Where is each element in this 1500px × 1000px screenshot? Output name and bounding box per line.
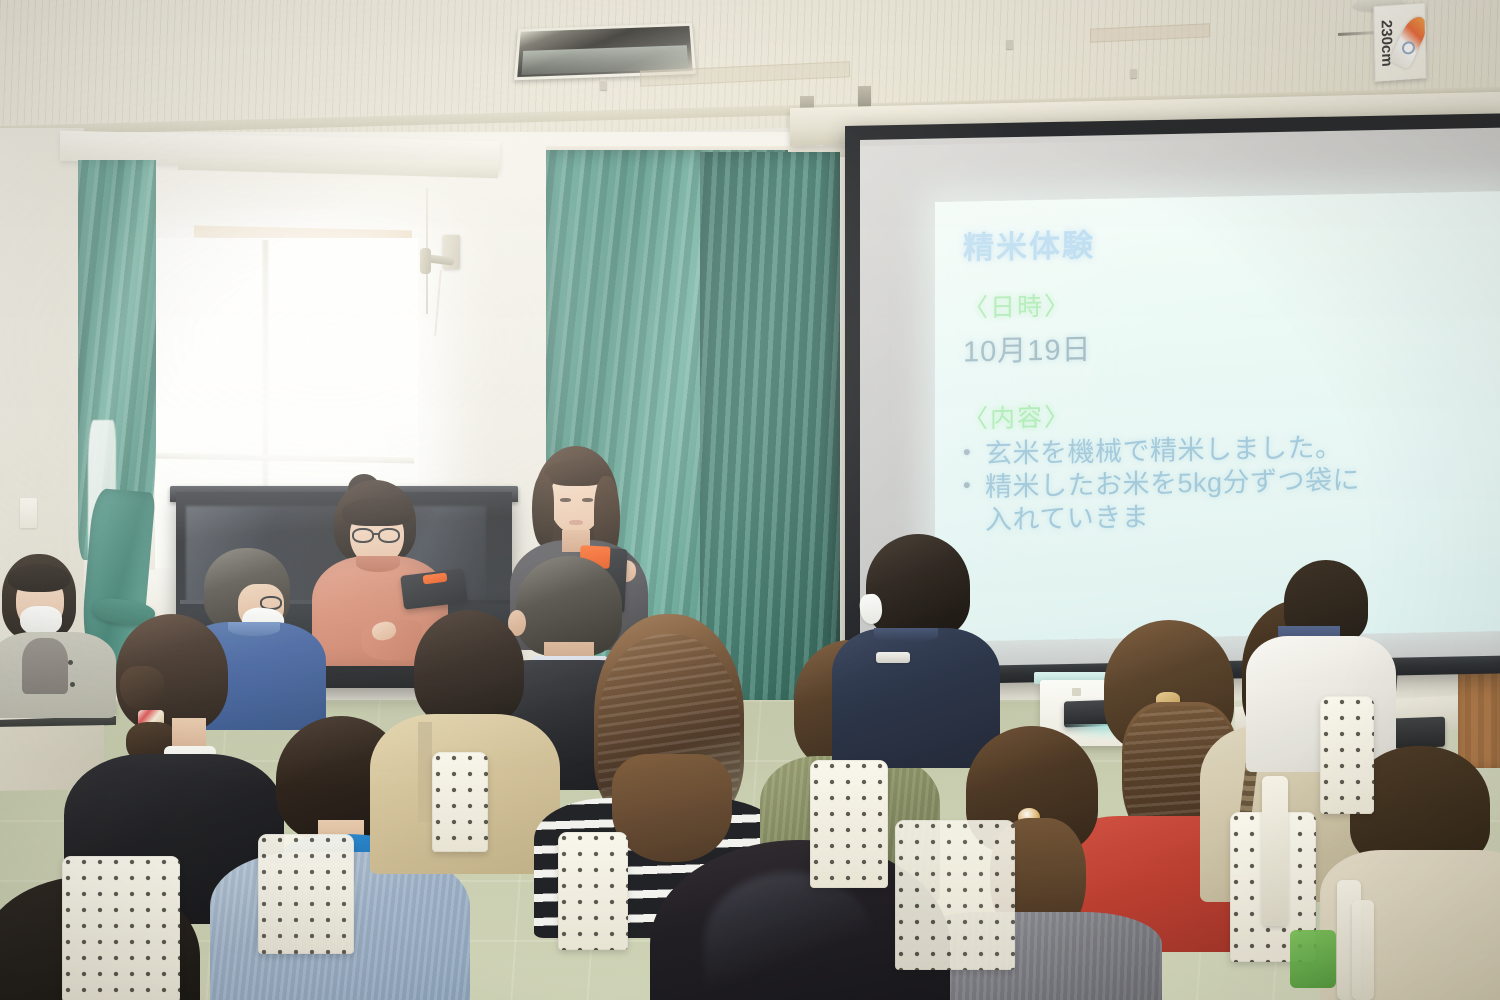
chair-armrest[interactable] <box>1262 776 1288 926</box>
chair[interactable] <box>558 832 628 950</box>
ceiling-fixture <box>600 81 607 90</box>
bullet-marker-icon: • <box>963 438 985 467</box>
chair[interactable] <box>62 856 180 1000</box>
a9-uniform-badge <box>876 652 910 663</box>
height-marker-sign: 230cm <box>1373 2 1426 82</box>
chair-armrest[interactable] <box>1352 900 1374 1000</box>
chair[interactable] <box>432 752 488 852</box>
a1-inner-top <box>22 638 68 694</box>
presenter-left-glasses <box>378 528 400 543</box>
chair[interactable] <box>810 760 888 888</box>
ceiling-fixture <box>1130 69 1137 78</box>
ceiling-fixture <box>1006 40 1013 49</box>
chair[interactable] <box>895 820 1015 970</box>
light-switch[interactable] <box>20 498 37 528</box>
a9-collar <box>874 628 938 642</box>
presenter-right-hair-side-l <box>532 474 554 546</box>
projected-slide: 精米体験 〈日時〉 10月19日 〈内容〉 • 玄米を機械で精米しました。 • … <box>935 191 1500 642</box>
photo-scene: 230cm 精米体験 〈日時〉 10月19 <box>0 0 1500 1000</box>
a3-bun <box>120 666 164 710</box>
a1-fringe <box>8 564 70 592</box>
wall-hook-knob <box>420 248 431 274</box>
presenter-left-collar <box>356 556 400 572</box>
presenter-right-eye <box>560 498 571 502</box>
a9-hair <box>866 534 970 638</box>
a14-hair-shine <box>704 872 874 1000</box>
presenter-left-fringe <box>342 498 412 526</box>
green-bag <box>1290 930 1336 988</box>
presenter-left-glasses <box>352 528 374 543</box>
bullet-marker-icon: • <box>963 471 985 500</box>
a6-lapel <box>418 722 432 822</box>
presenter-right-mouth <box>569 520 583 525</box>
presenter-right-eye <box>582 498 593 502</box>
slide-bullet-list: • 玄米を機械で精米しました。 • 精米したお米を5kg分ずつ袋に 入れていきま <box>963 428 1497 537</box>
presenter-left-glasses-bridge <box>373 533 380 535</box>
a6-hair <box>414 610 524 726</box>
chair[interactable] <box>258 834 354 954</box>
chair[interactable] <box>1320 696 1374 814</box>
